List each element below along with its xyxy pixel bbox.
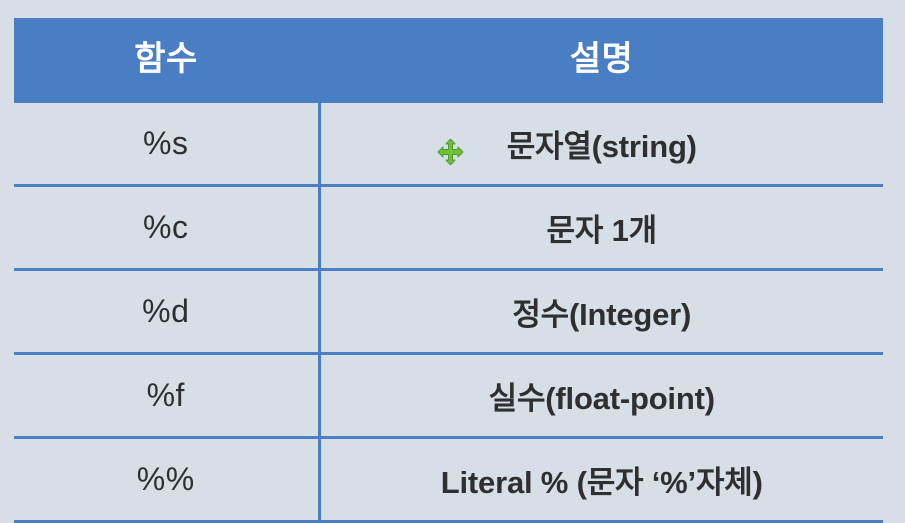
format-specifier-table: 함수 설명 %s 문자열(string) %c 문자 1개 %d 정수(Inte… [14, 18, 883, 523]
slide-canvas: 함수 설명 %s 문자열(string) %c 문자 1개 %d 정수(Inte… [0, 0, 905, 523]
column-header-description: 설명 [319, 18, 883, 102]
table-row: %% Literal % (문자 ‘%’자체) [14, 438, 883, 522]
cell-function-specifier: %f [14, 354, 319, 438]
cell-function-specifier: %% [14, 438, 319, 522]
column-header-function: 함수 [14, 18, 319, 102]
cell-description: 문자 1개 [319, 186, 883, 270]
cell-description: 실수(float-point) [319, 354, 883, 438]
cell-function-specifier: %d [14, 270, 319, 354]
cell-description-text: 문자열(string) [507, 121, 697, 166]
header-row: 함수 설명 [14, 18, 883, 102]
cell-description-text: Literal % (문자 ‘%’자체) [441, 457, 763, 502]
cell-function-specifier: %s [14, 102, 319, 186]
cell-description-text: 실수(float-point) [489, 373, 715, 418]
table-row: %f 실수(float-point) [14, 354, 883, 438]
cell-description-text: 문자 1개 [547, 205, 657, 250]
cell-function-specifier: %c [14, 186, 319, 270]
cell-description: 정수(Integer) [319, 270, 883, 354]
cell-description: 문자열(string) [319, 102, 883, 186]
cell-description-text: 정수(Integer) [512, 289, 691, 334]
table-header: 함수 설명 [14, 18, 883, 102]
table-row: %s 문자열(string) [14, 102, 883, 186]
table-row: %d 정수(Integer) [14, 270, 883, 354]
table-row: %c 문자 1개 [14, 186, 883, 270]
cell-description: Literal % (문자 ‘%’자체) [319, 438, 883, 522]
table-body: %s 문자열(string) %c 문자 1개 %d 정수(Integer) %… [14, 102, 883, 522]
